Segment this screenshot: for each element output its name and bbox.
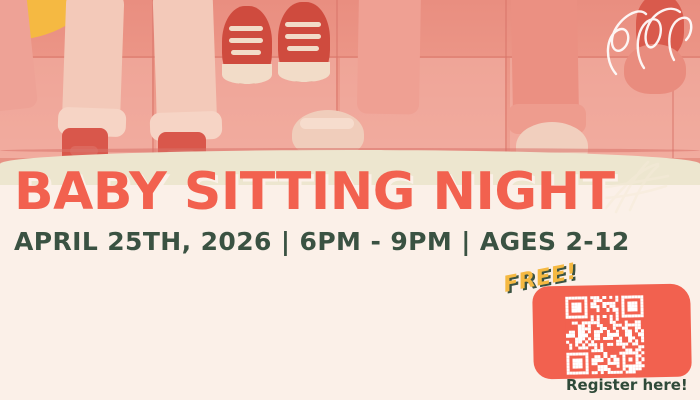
sneaker-sole <box>278 62 330 82</box>
page-title: BABY SITTING NIGHT <box>14 166 615 218</box>
event-details: APRIL 25TH, 2026 | 6PM - 9PM | AGES 2-12 <box>14 228 630 255</box>
sneaker-lace <box>287 46 319 51</box>
illustration-band <box>0 0 700 185</box>
sneaker-lace <box>285 22 321 27</box>
sneaker-sole <box>222 64 272 84</box>
slipper-band <box>300 118 354 129</box>
wall-seam <box>505 0 507 158</box>
sneaker-lace <box>229 38 263 43</box>
white-squiggle-doodle <box>598 0 694 82</box>
sneaker-lace <box>285 34 321 39</box>
pants-right-a <box>357 0 421 115</box>
register-label[interactable]: Register here! <box>566 376 688 394</box>
qr-code[interactable] <box>565 295 644 374</box>
sneaker-lace <box>231 50 261 55</box>
sneaker-lace <box>229 26 263 31</box>
poster-canvas: BABY SITTING NIGHT APRIL 25TH, 2026 | 6P… <box>0 0 700 400</box>
